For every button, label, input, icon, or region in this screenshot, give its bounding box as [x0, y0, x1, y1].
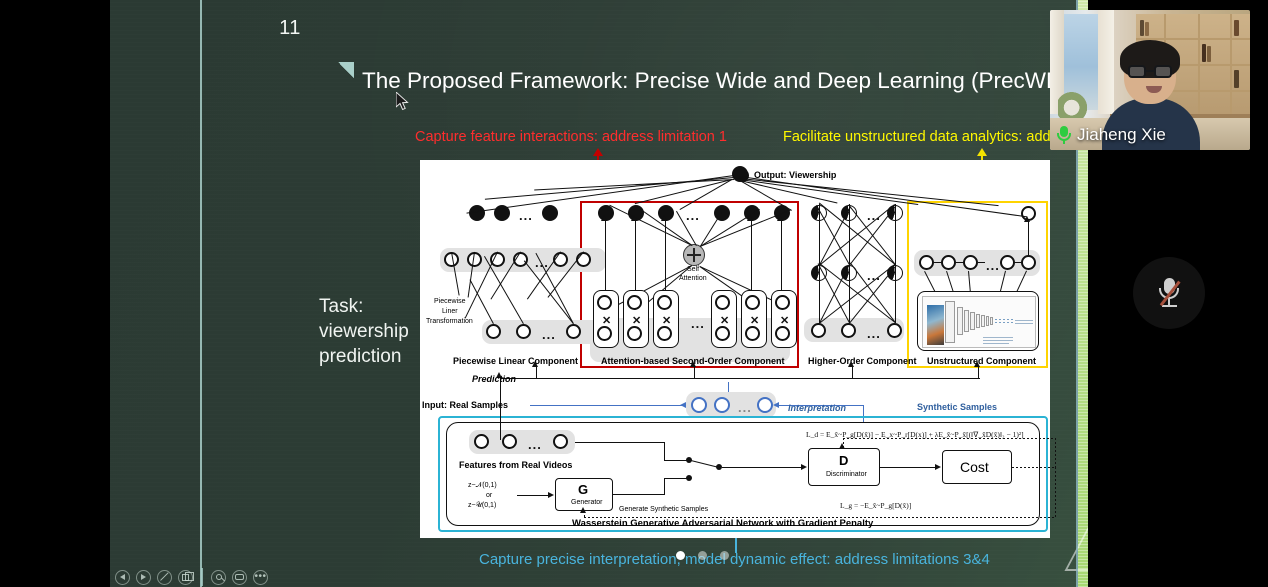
discriminator-label: Discriminator — [826, 471, 867, 478]
discriminator-loss-formula: L_d = E_x̃~P_g[D(x̃)] − E_x~P_r[D(x)] + … — [806, 430, 1024, 439]
feature-pair-box: ✕ — [623, 290, 649, 348]
slide-canvas: 11 The Proposed Framework: Precise Wide … — [110, 0, 1088, 587]
output-label: Output: Viewership — [754, 170, 836, 180]
pagination-dot[interactable] — [676, 551, 685, 560]
piecewise-hidden-node — [576, 252, 591, 267]
presentation-toolbar[interactable]: ••• — [115, 568, 268, 586]
features-from-real-videos-label: Features from Real Videos — [459, 460, 572, 470]
piecewise-note-line2: Liner — [442, 308, 458, 315]
higherorder-ellipsis: ... — [867, 326, 881, 341]
piecewise-input-ellipsis: ... — [542, 327, 556, 342]
piecewise-note-line1: Piecewise — [434, 298, 466, 305]
synthetic-samples-label: Synthetic Samples — [917, 402, 997, 412]
generate-synthetic-samples-label: Generate Synthetic Samples — [619, 506, 708, 513]
participant-name-badge: Jiaheng Xie — [1056, 125, 1166, 145]
unstructured-rnn-node — [963, 255, 978, 270]
interpretation-node — [714, 397, 730, 413]
self-attention-label-2: Attention — [679, 275, 707, 282]
triangle-left-icon — [120, 574, 125, 580]
callout-arrow-blue — [735, 537, 737, 553]
unstructured-ellipsis: ... — [986, 258, 1000, 273]
zoom-button[interactable] — [211, 570, 226, 585]
display-button[interactable] — [232, 570, 247, 585]
feature-pair-box: ✕ — [593, 290, 619, 348]
screen: 11 The Proposed Framework: Precise Wide … — [0, 0, 1268, 587]
feature-pair-box: ✕ — [771, 290, 797, 348]
task-label: Task: viewership prediction — [319, 294, 419, 369]
generator-label: Generator — [571, 499, 603, 506]
previous-slide-button[interactable] — [115, 570, 130, 585]
unstructured-rnn-node — [919, 255, 934, 270]
callout-red-limitation-1: Capture feature interactions: address li… — [415, 129, 727, 145]
cnn-diagram-box — [917, 291, 1039, 351]
page-title: The Proposed Framework: Precise Wide and… — [362, 68, 1088, 94]
secondorder-out-ellipsis: ... — [686, 208, 700, 223]
feature-pair-box: ✕ — [711, 290, 737, 348]
higherorder-input-node — [887, 323, 902, 338]
pair-box-ellipsis: ... — [691, 316, 705, 331]
piecewise-note-line3: Transformation — [426, 318, 473, 325]
feature-pair-box: ✕ — [741, 290, 767, 348]
piecewise-out-ellipsis: ... — [519, 208, 533, 223]
unstructured-rnn-node — [1021, 255, 1036, 270]
screen-icon — [235, 574, 244, 580]
piecewise-component-label: Piecewise Linear Component — [453, 356, 578, 366]
input-real-samples-label: Input: Real Samples — [422, 400, 508, 410]
wgan-label: Wasserstein Generative Adversarial Netwo… — [572, 518, 873, 529]
pagination-dot[interactable] — [698, 551, 707, 560]
callout-blue-limitations-3-4: Capture precise interpretation, model dy… — [479, 551, 990, 568]
slide-number: 11 — [260, 17, 320, 40]
microphone-on-icon — [1056, 126, 1072, 144]
real-feature-node — [502, 434, 517, 449]
annotate-button[interactable] — [157, 570, 172, 585]
discriminator-box: D Discriminator — [808, 448, 880, 486]
toolbar-separator — [201, 568, 203, 586]
piecewise-out-node — [469, 205, 485, 221]
cnn-architecture-image — [922, 296, 1036, 348]
framework-figure: Output: Viewership ... ... — [420, 160, 1050, 538]
higherorder-input-node — [841, 323, 856, 338]
video-person-glasses — [1128, 65, 1174, 78]
pagination-dots[interactable] — [676, 551, 729, 560]
more-options-button[interactable]: ••• — [253, 570, 268, 585]
duplicate-layers-button[interactable] — [178, 570, 193, 585]
piecewise-input-node — [516, 324, 531, 339]
participant-video-tile[interactable]: Jiaheng Xie — [1050, 10, 1250, 150]
video-plant — [1058, 92, 1092, 118]
cost-label: Cost — [960, 459, 989, 475]
interpretation-node — [691, 397, 707, 413]
cost-box: Cost — [942, 450, 1012, 484]
interpretation-ellipsis: ... — [738, 400, 752, 415]
title-marker-icon — [338, 62, 354, 78]
noise-dist-line3: z~𝒰(0,1) — [468, 502, 496, 510]
real-feature-node — [474, 434, 489, 449]
interpretation-label: Interpretation — [788, 403, 846, 413]
microphone-muted-icon — [1158, 278, 1180, 308]
feature-pair-box: ✕ — [653, 290, 679, 348]
interpretation-node — [757, 397, 773, 413]
real-feature-node — [553, 434, 568, 449]
real-feature-ellipsis: ... — [528, 437, 542, 452]
prediction-label: Prediction — [472, 374, 516, 384]
piecewise-input-node — [566, 324, 581, 339]
participant-name: Jiaheng Xie — [1077, 125, 1166, 145]
self-attention-node — [683, 244, 705, 266]
switch-contact-lower — [686, 475, 692, 481]
slide-vertical-rule — [200, 0, 202, 587]
higher-order-component-label: Higher-Order Component — [808, 356, 917, 366]
magnifier-icon — [216, 574, 222, 580]
layers-icon — [182, 574, 189, 581]
pen-icon — [160, 573, 169, 582]
unstructured-rnn-node — [941, 255, 956, 270]
ellipsis-icon: ••• — [254, 574, 266, 580]
piecewise-input-node — [486, 324, 501, 339]
generator-loss-formula: L_g = −E_x̃~P_g[D(x̃)] — [840, 501, 911, 510]
noise-dist-line1: z~𝒩(0,1) — [468, 482, 497, 490]
unstructured-component-label: Unstructured Component — [927, 356, 1036, 366]
pagination-dot[interactable] — [720, 551, 729, 560]
triangle-right-icon — [141, 574, 146, 580]
generator-letter: G — [578, 482, 588, 497]
discriminator-letter: D — [839, 453, 848, 468]
callout-yellow-limitation-2: Facilitate unstructured data analytics: … — [783, 129, 1088, 145]
piecewise-out-node — [542, 205, 558, 221]
unstructured-rnn-node — [1000, 255, 1015, 270]
mute-button[interactable] — [1133, 257, 1205, 329]
next-slide-button[interactable] — [136, 570, 151, 585]
noise-dist-line2: or — [486, 492, 492, 499]
video-curtain-right — [1098, 10, 1114, 114]
higherorder-input-node — [811, 323, 826, 338]
